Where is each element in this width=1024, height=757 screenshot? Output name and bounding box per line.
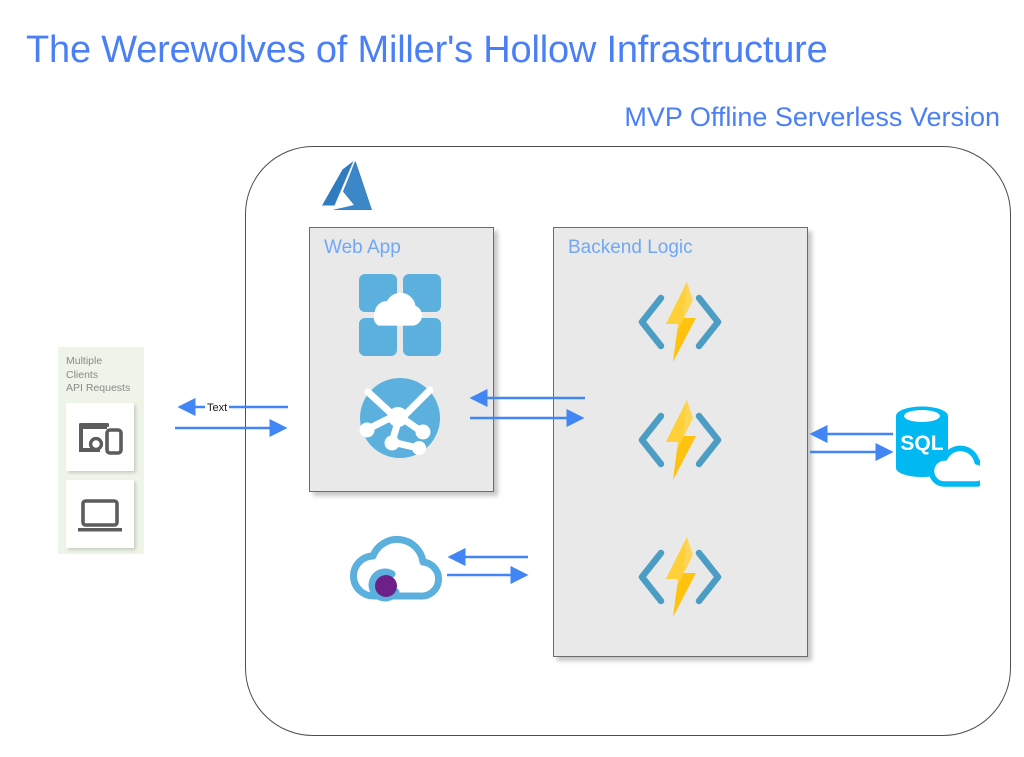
- clients-caption-line-3: API Requests: [66, 382, 130, 396]
- clients-caption-line-1: Multiple: [66, 355, 130, 369]
- page-subtitle: MVP Offline Serverless Version: [624, 100, 1000, 134]
- signalr-cloud-icon[interactable]: [346, 526, 450, 604]
- azure-logo: [320, 158, 392, 220]
- client-tile-laptop[interactable]: [66, 480, 134, 548]
- app-service-network-icon[interactable]: [358, 376, 442, 460]
- arrow-label-text: Text: [205, 402, 229, 414]
- azure-function-icon[interactable]: [630, 535, 730, 619]
- client-tile-devices[interactable]: [66, 403, 134, 471]
- clients-caption: Multiple Clients API Requests: [66, 355, 130, 396]
- laptop-icon: [66, 480, 134, 548]
- app-service-icon[interactable]: [357, 272, 443, 358]
- azure-sql-database-icon[interactable]: SQL: [884, 400, 980, 490]
- panel-backend-logic-label: Backend Logic: [568, 237, 693, 259]
- panel-web-app-label: Web App: [324, 237, 401, 259]
- devices-icon: [66, 403, 134, 471]
- azure-function-icon[interactable]: [630, 398, 730, 482]
- clients-caption-line-2: Clients: [66, 369, 130, 383]
- diagram-canvas: The Werewolves of Miller's Hollow Infras…: [0, 0, 1024, 757]
- sql-db-text: SQL: [900, 432, 943, 455]
- page-title: The Werewolves of Miller's Hollow Infras…: [26, 26, 828, 74]
- azure-function-icon[interactable]: [630, 280, 730, 364]
- clients-group: Multiple Clients API Requests: [58, 347, 144, 554]
